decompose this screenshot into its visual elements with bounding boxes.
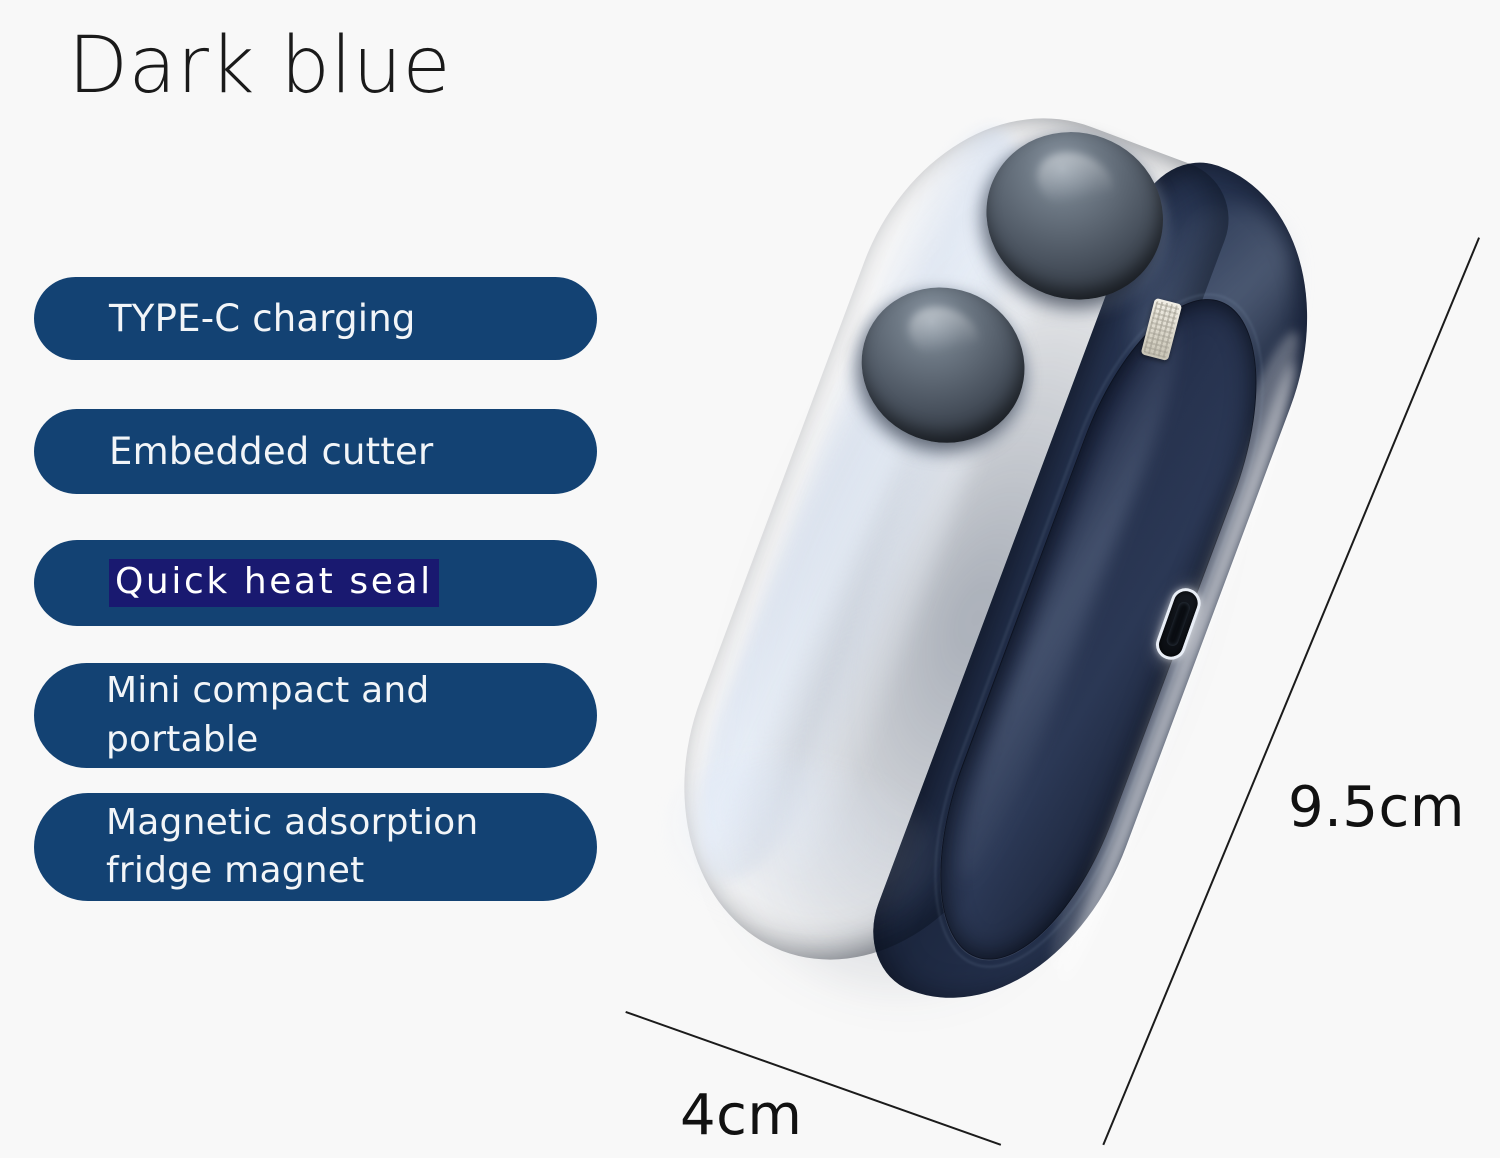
feature-pill-magnetic-adsorption[interactable]: Magnetic adsorption fridge magnet bbox=[34, 793, 597, 901]
feature-pill-mini-compact-portable[interactable]: Mini compact and portable bbox=[34, 663, 597, 768]
feature-pill-label: TYPE-C charging bbox=[109, 296, 416, 341]
product-device-body bbox=[628, 69, 1358, 1051]
dimension-label-width: 4cm bbox=[680, 1083, 802, 1148]
product-photo bbox=[600, 0, 1500, 1158]
feature-pill-label: Magnetic adsorption fridge magnet bbox=[106, 799, 478, 895]
page-title: Dark blue bbox=[68, 26, 451, 108]
feature-pill-label: Embedded cutter bbox=[109, 429, 433, 474]
feature-pill-label-highlighted: Quick heat seal bbox=[109, 559, 439, 607]
feature-pill-type-c-charging[interactable]: TYPE-C charging bbox=[34, 277, 597, 360]
button-glint-icon bbox=[1029, 142, 1122, 222]
feature-pill-label: Mini compact and portable bbox=[106, 667, 429, 763]
dimension-label-height: 9.5cm bbox=[1288, 775, 1465, 840]
feature-pill-label-line-1: Magnetic adsorption bbox=[106, 799, 478, 847]
button-glint-icon bbox=[901, 297, 987, 371]
feature-pill-quick-heat-seal[interactable]: Quick heat seal bbox=[34, 540, 597, 626]
feature-pill-embedded-cutter[interactable]: Embedded cutter bbox=[34, 409, 597, 494]
feature-pill-label-line-1: Mini compact and bbox=[106, 667, 429, 715]
feature-pill-label-line-2: portable bbox=[106, 716, 429, 764]
feature-pill-label-line-2: fridge magnet bbox=[106, 847, 478, 895]
product-infographic: Dark blue TYPE-C charging Embedded cutte… bbox=[0, 0, 1500, 1158]
